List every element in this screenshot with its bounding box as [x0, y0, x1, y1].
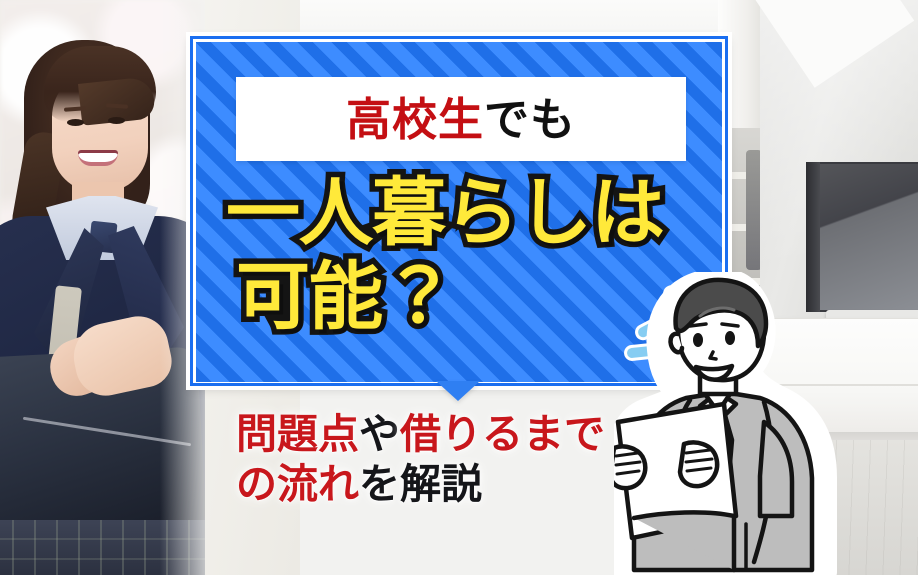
- student-photo: [0, 0, 205, 575]
- subtitle-seg-1: 問題点: [236, 411, 359, 457]
- subtitle: 問題点や借りるまで の流れを解説: [236, 412, 656, 508]
- eye-left: [67, 119, 84, 126]
- eye-right: [108, 117, 125, 124]
- banner-speech-tail: [436, 381, 480, 401]
- subtitle-line-1: 問題点や借りるまで: [236, 412, 656, 458]
- headline-rest: でも: [484, 94, 576, 145]
- subtitle-seg-2: や: [359, 411, 400, 457]
- businessman-illustration: [614, 272, 864, 575]
- thumbnail-canvas: 高校生でも 一人暮らしは 可能？ 問題点や借りるまで の流れを解説: [0, 0, 918, 575]
- subtitle-line-2: の流れを解説: [236, 462, 656, 508]
- headline-text: 高校生でも: [346, 97, 576, 142]
- smiling-mouth: [78, 150, 118, 166]
- subtitle-seg-4: の流れ: [236, 461, 359, 507]
- main-title-line-1: 一人暮らしは: [212, 176, 712, 250]
- headline-box: 高校生でも: [236, 77, 686, 161]
- subtitle-seg-5: を解説: [359, 461, 482, 507]
- headline-highlight: 高校生: [346, 94, 484, 145]
- subtitle-seg-3: 借りるまで: [400, 411, 605, 457]
- bangs: [44, 46, 156, 122]
